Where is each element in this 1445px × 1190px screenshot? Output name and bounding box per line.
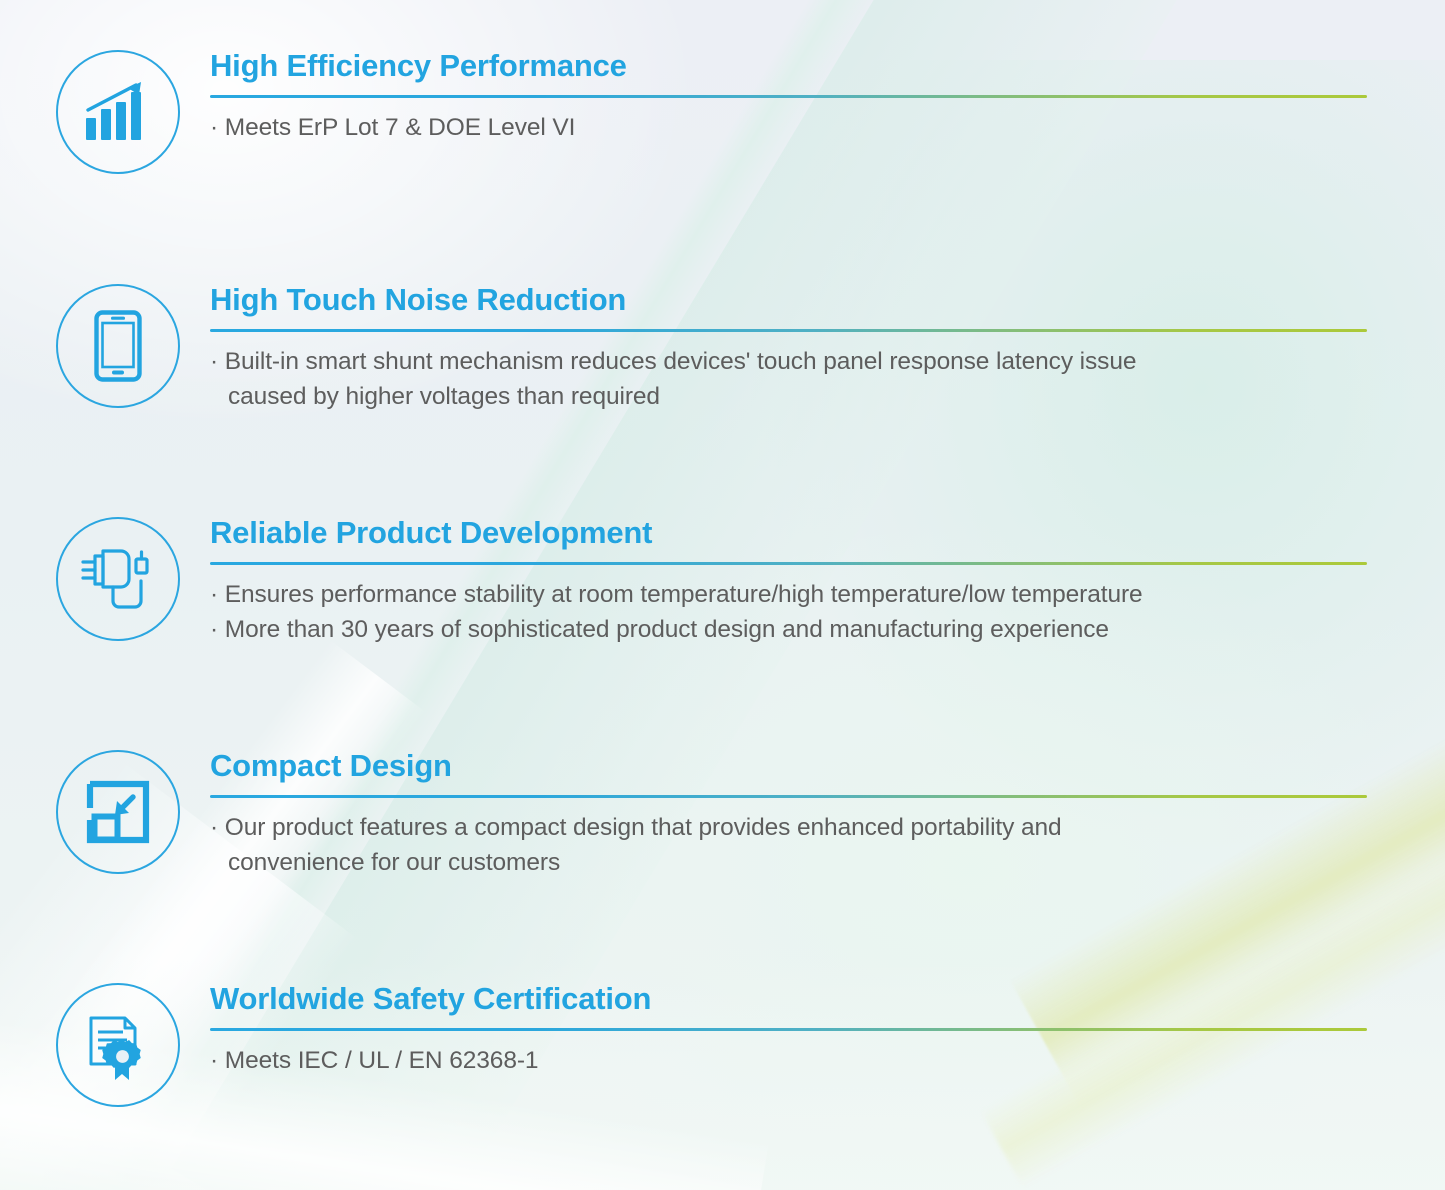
feature-body: Reliable Product Development · Ensures p… (210, 517, 1370, 648)
feature-description-line: · Our product features a compact design … (210, 811, 1370, 846)
feature-icon-wrapper (56, 983, 180, 1107)
feature-title: High Touch Noise Reduction (210, 284, 1370, 317)
feature-body: High Efficiency Performance · Meets ErP … (210, 50, 1370, 146)
feature-icon-wrapper (56, 284, 180, 408)
feature-item-compact-design: Compact Design · Our product features a … (0, 750, 1445, 950)
feature-description-line: caused by higher voltages than required (210, 380, 1370, 415)
feature-body: Worldwide Safety Certification · Meets I… (210, 983, 1370, 1079)
feature-description: · Ensures performance stability at room … (210, 578, 1370, 648)
feature-description-line: · More than 30 years of sophisticated pr… (210, 613, 1370, 648)
power-adapter-icon (56, 517, 180, 641)
feature-item-high-touch-noise-reduction: High Touch Noise Reduction · Built-in sm… (0, 284, 1445, 484)
feature-icon-wrapper (56, 750, 180, 874)
feature-description-line: convenience for our customers (210, 846, 1370, 881)
feature-item-worldwide-safety-certification: Worldwide Safety Certification · Meets I… (0, 983, 1445, 1183)
feature-icon-wrapper (56, 50, 180, 174)
feature-description-line: · Ensures performance stability at room … (210, 578, 1370, 613)
feature-highlights-page: High Efficiency Performance · Meets ErP … (0, 0, 1445, 1190)
feature-description: · Meets ErP Lot 7 & DOE Level VI (210, 111, 1370, 146)
certificate-award-icon (56, 983, 180, 1107)
bar-chart-growth-icon (56, 50, 180, 174)
feature-title: Compact Design (210, 750, 1370, 783)
feature-description-line: · Meets ErP Lot 7 & DOE Level VI (210, 111, 1370, 146)
feature-title: Worldwide Safety Certification (210, 983, 1370, 1016)
feature-body: Compact Design · Our product features a … (210, 750, 1370, 881)
feature-divider (210, 329, 1367, 333)
feature-description-line: · Meets IEC / UL / EN 62368-1 (210, 1044, 1370, 1079)
feature-title: Reliable Product Development (210, 517, 1370, 550)
feature-divider (210, 1028, 1367, 1032)
feature-description-line: · Built-in smart shunt mechanism reduces… (210, 345, 1370, 380)
feature-icon-wrapper (56, 517, 180, 641)
feature-divider (210, 795, 1367, 799)
feature-item-reliable-product-development: Reliable Product Development · Ensures p… (0, 517, 1445, 717)
feature-title: High Efficiency Performance (210, 50, 1370, 83)
feature-divider (210, 95, 1367, 99)
compact-resize-icon (56, 750, 180, 874)
feature-body: High Touch Noise Reduction · Built-in sm… (210, 284, 1370, 415)
smartphone-icon (56, 284, 180, 408)
feature-description: · Our product features a compact design … (210, 811, 1370, 881)
feature-description: · Built-in smart shunt mechanism reduces… (210, 345, 1370, 415)
feature-item-high-efficiency-performance: High Efficiency Performance · Meets ErP … (0, 50, 1445, 250)
feature-description: · Meets IEC / UL / EN 62368-1 (210, 1044, 1370, 1079)
feature-divider (210, 562, 1367, 566)
